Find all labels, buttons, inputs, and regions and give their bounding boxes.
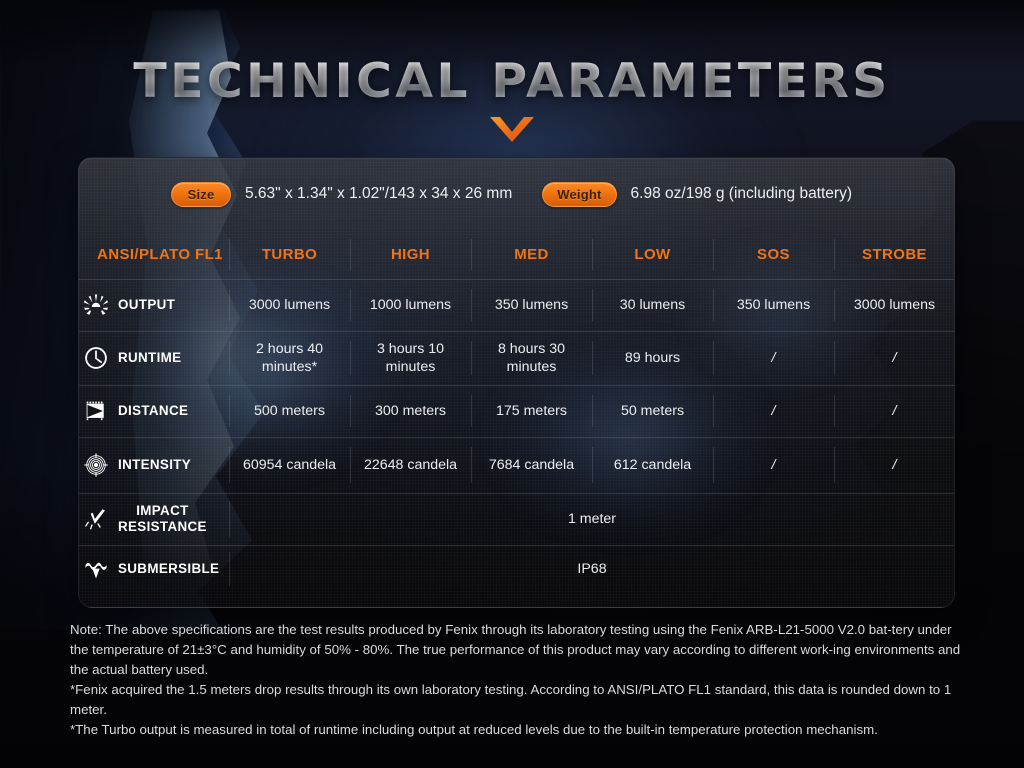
beam-distance-icon: [83, 398, 109, 424]
table-row-distance: DISTANCE 500 meters 300 meters 175 meter…: [79, 385, 955, 437]
target-intensity-icon: [83, 452, 109, 478]
specs-table: ANSI/PLATO FL1 TURBO HIGH MED LOW SOS ST…: [79, 230, 955, 593]
header-ansi-plato: ANSI/PLATO FL1: [79, 230, 229, 279]
weight-value: 6.98 oz/198 g (including battery): [631, 185, 852, 203]
header-sos: SOS: [713, 230, 834, 279]
row-label-output: OUTPUT: [79, 279, 229, 331]
row-label-text: OUTPUT: [118, 297, 175, 313]
row-label-intensity: INTENSITY: [79, 437, 229, 493]
table-header-row: ANSI/PLATO FL1 TURBO HIGH MED LOW SOS ST…: [79, 230, 955, 279]
cell-intensity-strobe: /: [834, 437, 955, 493]
page-root: TECHNICAL PARAMETERS Size 5.63" x 1.34: [0, 0, 1024, 768]
cell-distance-med: 175 meters: [471, 385, 592, 437]
header-strobe: STROBE: [834, 230, 955, 279]
row-label-text: INTENSITY: [118, 457, 191, 473]
table-row-intensity: INTENSITY 60954 candela 22648 candela 76…: [79, 437, 955, 493]
cell-submersible-value: IP68: [229, 545, 955, 593]
specs-table-head: ANSI/PLATO FL1 TURBO HIGH MED LOW SOS ST…: [79, 230, 955, 279]
row-label-text: DISTANCE: [118, 403, 188, 419]
row-label-text: SUBMERSIBLE: [118, 561, 219, 577]
page-title: TECHNICAL PARAMETERS: [133, 54, 890, 109]
note-line-3: *The Turbo output is measured in total o…: [70, 720, 966, 740]
size-weight-row: Size 5.63" x 1.34" x 1.02"/143 x 34 x 26…: [79, 158, 954, 230]
cell-runtime-turbo: 2 hours 40 minutes*: [229, 331, 350, 385]
cell-intensity-sos: /: [713, 437, 834, 493]
size-badge: Size: [171, 182, 231, 207]
cell-distance-sos: /: [713, 385, 834, 437]
cell-intensity-high: 22648 candela: [350, 437, 471, 493]
row-label-submersible: SUBMERSIBLE: [79, 545, 229, 593]
cell-runtime-high: 3 hours 10 minutes: [350, 331, 471, 385]
row-label-text: IMPACT RESISTANCE: [118, 503, 207, 535]
header-low: LOW: [592, 230, 713, 279]
spec-panel: Size 5.63" x 1.34" x 1.02"/143 x 34 x 26…: [78, 157, 955, 608]
impact-drop-icon: [83, 506, 109, 532]
table-row-impact-resistance: IMPACT RESISTANCE 1 meter: [79, 493, 955, 545]
footer-note: Note: The above specifications are the t…: [70, 620, 966, 740]
cell-impact-resistance-value: 1 meter: [229, 493, 955, 545]
table-row-output: OUTPUT 3000 lumens 1000 lumens 350 lumen…: [79, 279, 955, 331]
row-label-runtime: RUNTIME: [79, 331, 229, 385]
row-label-impact-resistance: IMPACT RESISTANCE: [79, 493, 229, 545]
cell-output-sos: 350 lumens: [713, 279, 834, 331]
table-row-runtime: RUNTIME 2 hours 40 minutes* 3 hours 10 m…: [79, 331, 955, 385]
cell-distance-low: 50 meters: [592, 385, 713, 437]
cell-output-low: 30 lumens: [592, 279, 713, 331]
row-label-distance: DISTANCE: [79, 385, 229, 437]
cell-distance-strobe: /: [834, 385, 955, 437]
sunburst-icon: [83, 292, 109, 318]
row-label-text: RUNTIME: [118, 350, 181, 366]
cell-intensity-med: 7684 candela: [471, 437, 592, 493]
cell-runtime-med: 8 hours 30 minutes: [471, 331, 592, 385]
cell-output-turbo: 3000 lumens: [229, 279, 350, 331]
note-line-1: Note: The above specifications are the t…: [70, 620, 966, 680]
header-high: HIGH: [350, 230, 471, 279]
cell-distance-turbo: 500 meters: [229, 385, 350, 437]
clock-icon: [83, 345, 109, 371]
header-turbo: TURBO: [229, 230, 350, 279]
table-row-submersible: SUBMERSIBLE IP68: [79, 545, 955, 593]
cell-distance-high: 300 meters: [350, 385, 471, 437]
cell-output-strobe: 3000 lumens: [834, 279, 955, 331]
size-value: 5.63" x 1.34" x 1.02"/143 x 34 x 26 mm: [245, 185, 512, 203]
header-med: MED: [471, 230, 592, 279]
cell-intensity-low: 612 candela: [592, 437, 713, 493]
cell-runtime-strobe: /: [834, 331, 955, 385]
chevron-down-icon: [488, 115, 536, 145]
note-line-2: *Fenix acquired the 1.5 meters drop resu…: [70, 680, 966, 720]
water-wave-icon: [83, 556, 109, 582]
specs-table-body: OUTPUT 3000 lumens 1000 lumens 350 lumen…: [79, 279, 955, 593]
cell-runtime-low: 89 hours: [592, 331, 713, 385]
cell-intensity-turbo: 60954 candela: [229, 437, 350, 493]
weight-badge: Weight: [542, 182, 616, 207]
chevron-divider: [0, 115, 1024, 145]
cell-output-med: 350 lumens: [471, 279, 592, 331]
page-title-wrap: TECHNICAL PARAMETERS: [0, 54, 1024, 109]
cell-output-high: 1000 lumens: [350, 279, 471, 331]
cell-runtime-sos: /: [713, 331, 834, 385]
